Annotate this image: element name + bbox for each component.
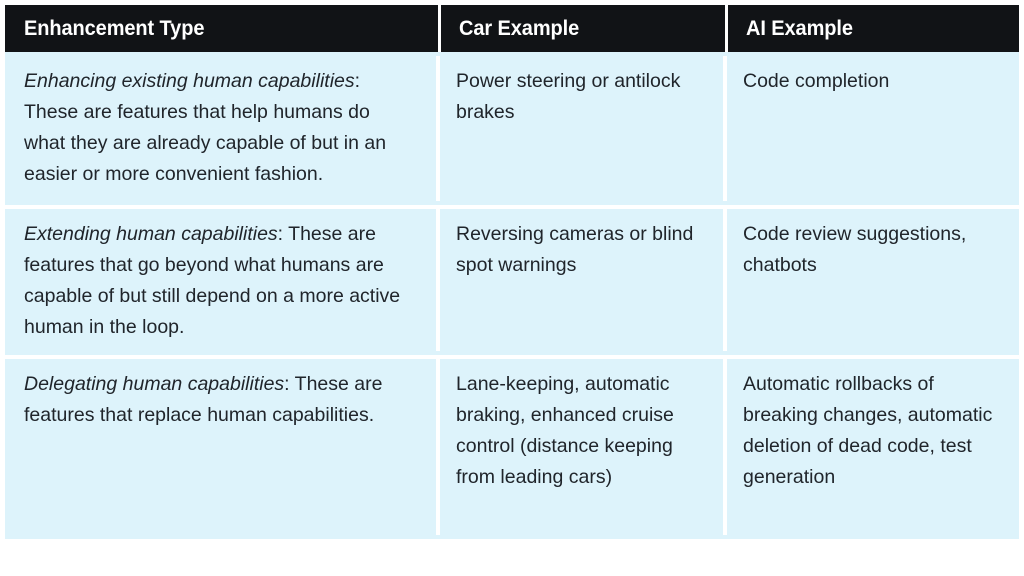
cell-car-example: Lane-keeping, automatic braking, enhance… [438, 355, 725, 539]
enhancement-type-term: Delegating human capabilities [24, 373, 284, 395]
ai-example-text: Code completion [743, 66, 1009, 97]
column-header-car-example-label: Car Example [459, 16, 579, 41]
cell-ai-example: Code review suggestions, chatbots [725, 205, 1019, 355]
enhancement-type-term: Extending human capabilities [24, 223, 278, 245]
enhancement-type-text: Delegating human capabilities: These are… [24, 369, 416, 431]
column-header-enhancement-type: Enhancement Type [5, 5, 438, 52]
ai-example-text: Automatic rollbacks of breaking changes,… [743, 369, 1009, 493]
column-header-ai-example: AI Example [725, 5, 1019, 52]
table-header-row: Enhancement Type Car Example AI Example [5, 5, 1019, 52]
cell-car-example: Reversing cameras or blind spot warnings [438, 205, 725, 355]
enhancement-type-term: Enhancing existing human capabilities [24, 70, 355, 92]
table-row: Enhancing existing human capabilities: T… [5, 52, 1019, 205]
car-example-text: Reversing cameras or blind spot warnings [456, 219, 711, 281]
cell-ai-example: Code completion [725, 52, 1019, 205]
enhancement-type-text: Extending human capabilities: These are … [24, 219, 416, 343]
cell-ai-example: Automatic rollbacks of breaking changes,… [725, 355, 1019, 539]
ai-example-text: Code review suggestions, chatbots [743, 219, 1009, 281]
car-example-text: Lane-keeping, automatic braking, enhance… [456, 369, 711, 493]
enhancement-type-text: Enhancing existing human capabilities: T… [24, 66, 416, 190]
car-example-text: Power steering or antilock brakes [456, 66, 711, 128]
table-body: Enhancing existing human capabilities: T… [5, 52, 1019, 539]
table-row: Extending human capabilities: These are … [5, 205, 1019, 355]
column-header-ai-example-label: AI Example [746, 16, 853, 41]
table-row: Delegating human capabilities: These are… [5, 355, 1019, 539]
cell-enhancement-type: Extending human capabilities: These are … [5, 205, 438, 355]
enhancement-comparison-table: Enhancement Type Car Example AI Example … [5, 5, 1019, 539]
column-header-enhancement-type-label: Enhancement Type [24, 16, 204, 41]
cell-car-example: Power steering or antilock brakes [438, 52, 725, 205]
cell-enhancement-type: Delegating human capabilities: These are… [5, 355, 438, 539]
column-header-car-example: Car Example [438, 5, 725, 52]
cell-enhancement-type: Enhancing existing human capabilities: T… [5, 52, 438, 205]
